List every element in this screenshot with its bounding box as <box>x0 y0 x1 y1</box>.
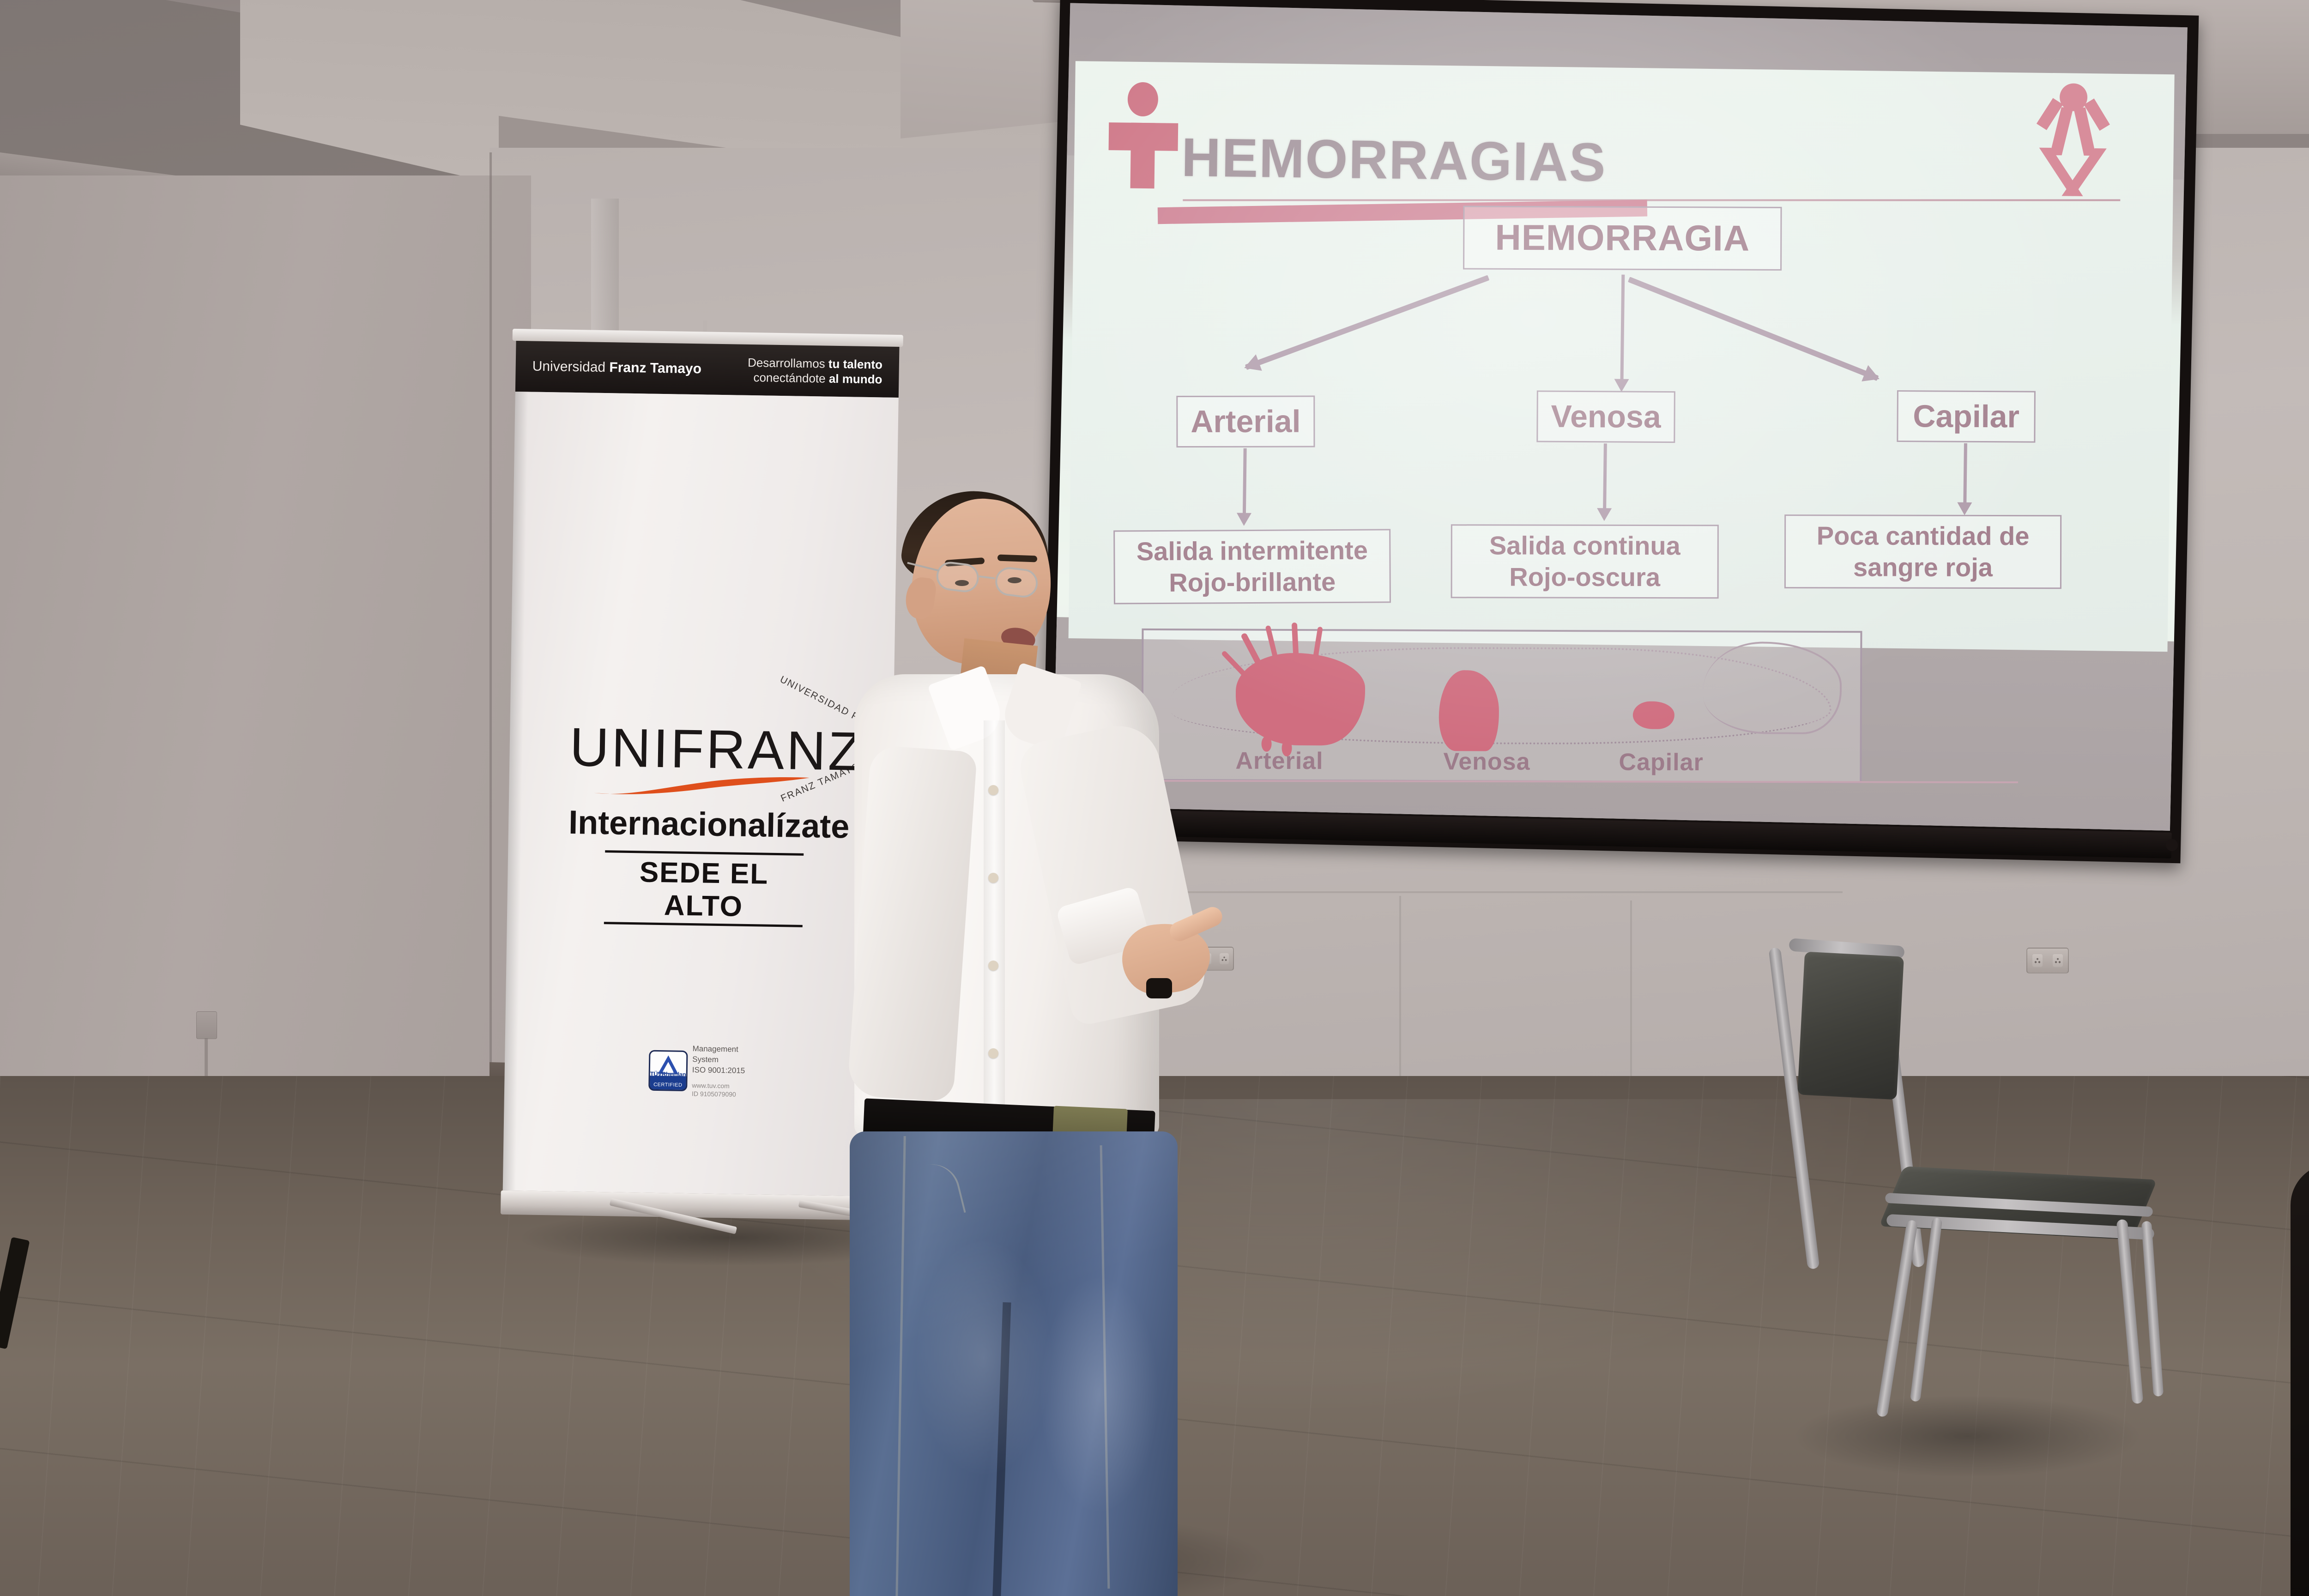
shirt-button-4 <box>988 1048 998 1058</box>
outlet-left-wall[interactable] <box>196 1011 217 1039</box>
tuv-line-1: Management <box>692 1044 745 1055</box>
arrow-venosa-to-detail <box>1603 443 1607 509</box>
unifranz-campus: SEDE EL ALTO <box>604 850 804 927</box>
projected-slide: HEMORRAGIAS HEMORRAGIA Arterial Venosa C… <box>1059 44 2184 653</box>
diagram-detail-capilar: Poca cantidad de sangre roja <box>1784 514 2061 589</box>
diagram-detail-venosa: Salida continua Rojo-oscura <box>1451 524 1719 598</box>
diagram-node-venosa: Venosa <box>1536 391 1675 443</box>
stacking-chair[interactable] <box>1783 942 2152 1478</box>
unifranz-person-logo-icon <box>2035 83 2110 181</box>
banner-university-plain: Universidad <box>532 359 609 375</box>
presentation-clicker[interactable] <box>1146 978 1172 998</box>
slogan-l2-bold: al mundo <box>829 372 882 387</box>
diagram-root-node: HEMORRAGIA <box>1463 206 1782 270</box>
detail-line-2: Rojo-oscura <box>1489 561 1680 593</box>
wall-seam-horizontal <box>1122 891 1843 893</box>
shirt-button-3 <box>988 961 998 971</box>
banner-slogan-line2: conectándote al mundo <box>747 370 882 387</box>
presenter <box>845 490 1224 1596</box>
jeans-fade-right <box>1039 1275 1159 1515</box>
detail-line-2: sangre roja <box>1817 551 2030 583</box>
arrow-root-to-venosa <box>1620 275 1625 380</box>
glasses-lens-left <box>935 560 980 594</box>
tuv-mark-subtitle: CERTIFIED <box>650 1082 686 1088</box>
unifranz-tagline: Internacionalízate <box>568 804 846 846</box>
presenter-shirt-placket <box>984 720 1005 1127</box>
slide-canvas: HEMORRAGIAS HEMORRAGIA Arterial Venosa C… <box>1069 61 2175 652</box>
shirt-button-2 <box>988 873 998 883</box>
arrow-root-to-capilar <box>1628 277 1879 381</box>
slide-title-rule <box>1183 199 2120 201</box>
shirt-button-1 <box>988 785 998 795</box>
slide-title: HEMORRAGIAS <box>1181 126 1607 194</box>
chair-leg-front-right <box>2116 1219 2144 1404</box>
tuv-mark-name: TÜVRheinland <box>650 1070 686 1078</box>
arrow-capilar-to-detail <box>1963 443 1967 503</box>
presenter-eyebrow-right <box>997 555 1037 562</box>
wall-corner-edge <box>490 152 492 1122</box>
bleeding-illustration-panel: Arterial Venosa Capilar <box>1141 629 1862 783</box>
chair-backrest-pad <box>1797 952 1904 1100</box>
tuv-certification-text: Management System ISO 9001:2015 www.tuv.… <box>692 1044 745 1099</box>
capillary-blood-ooze <box>1633 701 1674 729</box>
tuv-line-3: ISO 9001:2015 <box>692 1065 745 1076</box>
tuv-certification-badge: TÜVRheinland CERTIFIED Management System… <box>648 1045 765 1098</box>
detail-line-1: Poca cantidad de <box>1817 520 2030 552</box>
slogan-l2-plain: conectándote <box>753 370 829 386</box>
wall-seam-vertical-a <box>1399 896 1401 1081</box>
wall-seam-vertical-b <box>1630 901 1632 1081</box>
tuv-line-2: System <box>692 1054 745 1066</box>
banner-slogan-line1: Desarrollamos tu talento <box>748 355 882 372</box>
person-dark-jacket <box>2291 1164 2309 1596</box>
arrow-root-to-arterial <box>1245 275 1489 370</box>
diagram-node-arterial: Arterial <box>1176 396 1315 448</box>
detail-line-1: Salida continua <box>1489 530 1680 562</box>
venous-blood-flow <box>1439 670 1499 751</box>
tuv-rheinland-logo-icon: TÜVRheinland CERTIFIED <box>648 1050 688 1091</box>
banner-university-bold: Franz Tamayo <box>609 360 701 376</box>
unifranz-figure-logo-icon <box>1108 82 1179 189</box>
illustration-label-capilar: Capilar <box>1619 748 1704 776</box>
banner-university-name: Universidad Franz Tamayo <box>532 359 701 377</box>
hand-outline-shape <box>1703 641 1842 734</box>
arterial-blood-pool <box>1236 653 1366 746</box>
tuv-line-4: www.tuv.com <box>692 1081 745 1091</box>
unifranz-swoosh-icon <box>593 773 810 800</box>
banner-slogan: Desarrollamos tu talento conectándote al… <box>747 355 882 387</box>
tuv-line-5: ID 9105079090 <box>692 1090 745 1100</box>
banner-header-strip: Universidad Franz Tamayo Desarrollamos t… <box>515 341 900 398</box>
arrow-arterial-to-detail <box>1243 448 1247 514</box>
slogan-l1-bold: tu talento <box>828 357 882 371</box>
illustration-label-arterial: Arterial <box>1235 747 1323 775</box>
jeans-fade-left <box>914 1238 1053 1478</box>
slogan-l1-plain: Desarrollamos <box>748 355 828 370</box>
diagram-node-capilar: Capilar <box>1897 390 2036 443</box>
illustration-label-venosa: Venosa <box>1443 748 1530 776</box>
banner-body: UNIVERSIDAD PRIVADA FRANZ TAMAYO UNIFRAN… <box>503 392 899 1197</box>
rollup-banner[interactable]: Universidad Franz Tamayo Desarrollamos t… <box>502 329 900 1226</box>
glasses-bridge <box>979 575 995 579</box>
classroom-photo-scene: HEMORRAGIAS HEMORRAGIA Arterial Venosa C… <box>0 0 2309 1596</box>
